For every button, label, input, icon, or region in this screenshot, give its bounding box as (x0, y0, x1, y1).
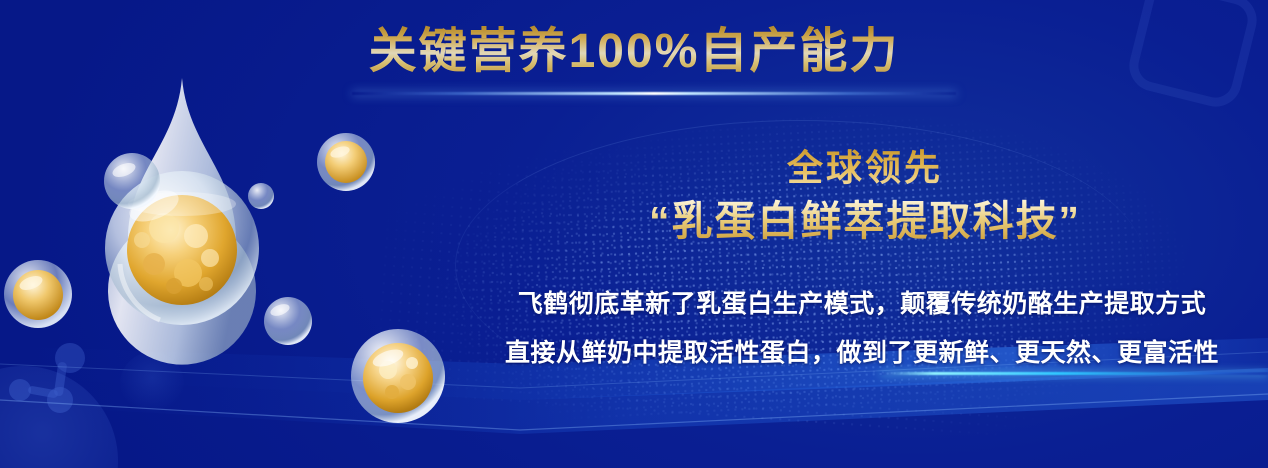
title-underline-decor (352, 92, 956, 95)
page-title: 关键营养100%自产能力 (0, 24, 1268, 80)
golden-bubble-bottom (340, 318, 456, 434)
body-copy-line-2: 直接从鲜奶中提取活性蛋白，做到了更新鲜、更天然、更富活性 (462, 329, 1262, 378)
molecule-icon (8, 340, 118, 430)
water-droplet-illustration (96, 68, 416, 428)
subtitle-line-2: “乳蛋白鲜萃提取科技” (470, 195, 1260, 247)
corner-circle-decor (0, 366, 118, 468)
subtitle-line-1: 全球领先 (470, 145, 1260, 191)
body-copy-block: 飞鹤彻底革新了乳蛋白生产模式，颠覆传统奶酪生产提取方式 直接从鲜奶中提取活性蛋白… (462, 280, 1262, 378)
golden-bubble-left (0, 248, 84, 340)
corner-circle-decor-small (120, 352, 184, 416)
body-copy-line-1: 飞鹤彻底革新了乳蛋白生产模式，颠覆传统奶酪生产提取方式 (462, 280, 1262, 329)
subtitle-block: 全球领先 “乳蛋白鲜萃提取科技” (470, 145, 1260, 248)
promo-banner: 关键营养100%自产能力 全球领先 “乳蛋白鲜萃提取科技” 飞鹤彻底革新了乳蛋白… (0, 0, 1268, 468)
